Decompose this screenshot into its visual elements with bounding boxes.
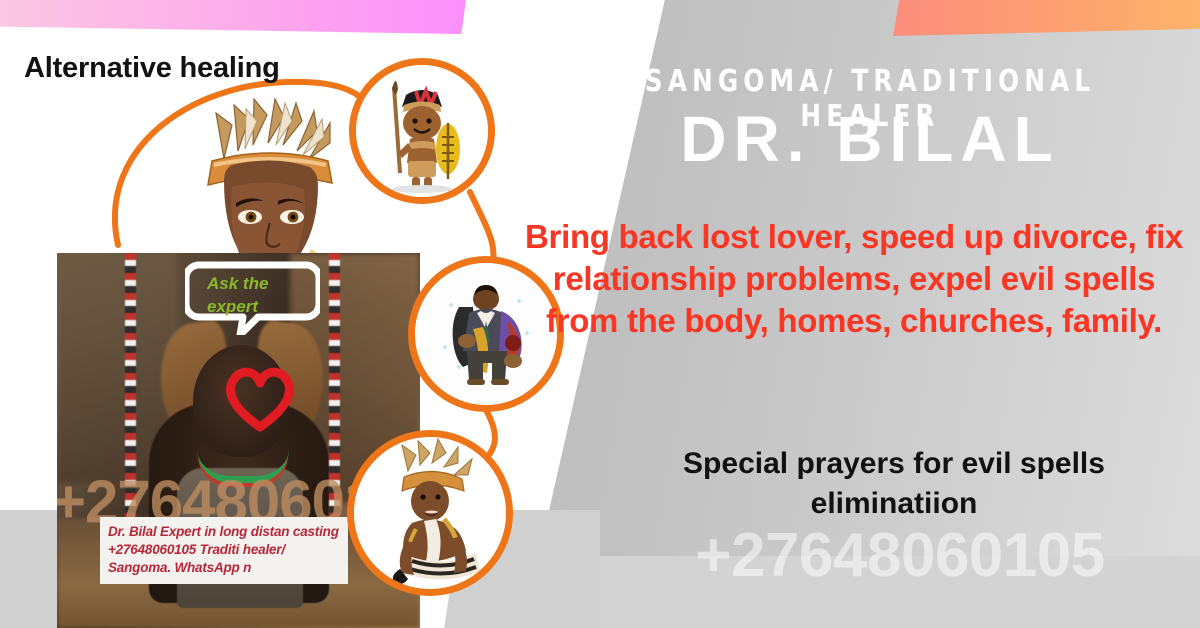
photo-caption: Dr. Bilal Expert in long distan casting … bbox=[100, 517, 348, 584]
special-prayers-text: Special prayers for evil spells eliminat… bbox=[600, 444, 1188, 523]
heart-icon bbox=[223, 363, 297, 433]
services-text: Bring back lost lover, speed up divorce,… bbox=[524, 216, 1184, 343]
right-phone-watermark: +27648060105 bbox=[600, 520, 1200, 591]
healer-name-title: DR. BILAL bbox=[560, 104, 1180, 176]
ask-the-expert-label: Ask the expert bbox=[207, 273, 311, 319]
alternative-healing-heading: Alternative healing bbox=[24, 52, 280, 85]
top-pink-accent-bar bbox=[0, 0, 466, 34]
poster-canvas: Alternative healing bbox=[0, 0, 1200, 628]
ask-the-expert-bubble: Ask the expert bbox=[185, 259, 320, 335]
circle-photo-zulu-warrior[interactable] bbox=[349, 58, 495, 204]
circle-photo-crouching-healer[interactable] bbox=[347, 430, 513, 596]
